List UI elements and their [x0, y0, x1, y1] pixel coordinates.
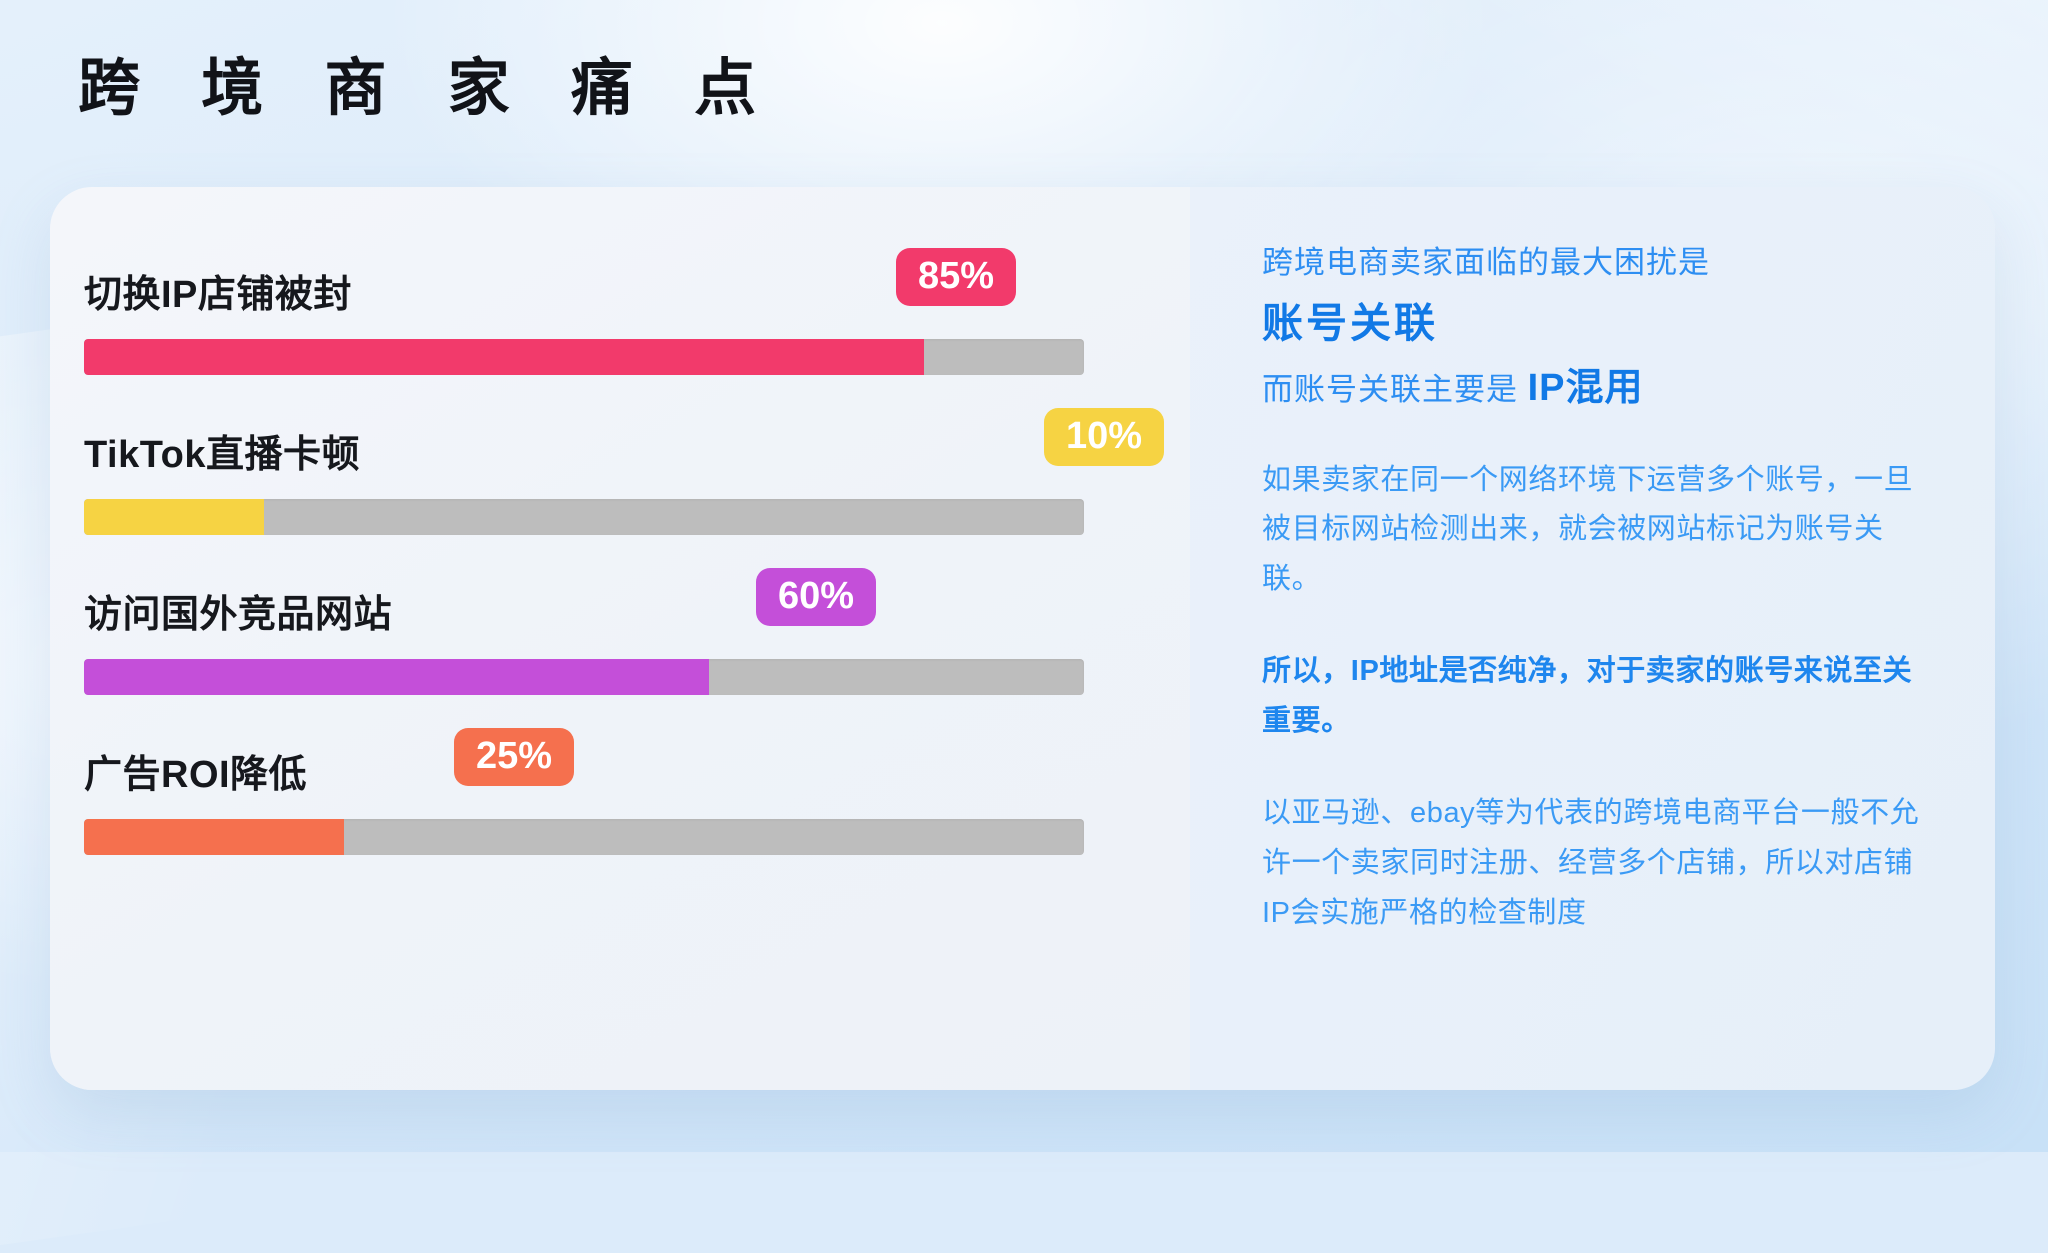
- sub-line: 而账号关联主要是 IP混用: [1262, 362, 1922, 415]
- bar-header: 广告ROI降低 25%: [84, 722, 1150, 814]
- bar-track: [84, 659, 1084, 695]
- bar-fill: [84, 659, 709, 695]
- hero-keyword: 账号关联: [1262, 297, 1922, 350]
- bar-row: 广告ROI降低 25%: [84, 722, 1150, 882]
- chart-panel: 切换IP店铺被封 85% TikTok直播卡顿 10% 访问国外竞品网站: [50, 187, 1190, 1090]
- bar-label: TikTok直播卡顿: [84, 423, 360, 478]
- paragraph-2: 所以，IP地址是否纯净，对于卖家的账号来说至关重要。: [1262, 647, 1922, 747]
- bar-fill: [84, 499, 264, 535]
- bar-header: 访问国外竞品网站 60%: [84, 562, 1150, 654]
- description-panel: 跨境电商卖家面临的最大困扰是 账号关联 而账号关联主要是 IP混用 如果卖家在同…: [1190, 187, 1995, 1090]
- bar-track: [84, 819, 1084, 855]
- bar-label: 广告ROI降低: [84, 743, 307, 798]
- bar-header: 切换IP店铺被封 85%: [84, 242, 1150, 334]
- bar-track: [84, 339, 1084, 375]
- bar-percent-badge: 25%: [454, 728, 574, 786]
- bar-header: TikTok直播卡顿 10%: [84, 402, 1150, 494]
- bar-chart: 切换IP店铺被封 85% TikTok直播卡顿 10% 访问国外竞品网站: [84, 242, 1150, 882]
- sub-keyword: IP混用: [1528, 367, 1644, 409]
- bar-percent-badge: 60%: [756, 568, 876, 626]
- bar-row: 访问国外竞品网站 60%: [84, 562, 1150, 722]
- bar-fill: [84, 819, 344, 855]
- bar-label: 访问国外竞品网站: [84, 583, 392, 638]
- bar-track: [84, 499, 1084, 535]
- bar-fill: [84, 339, 924, 375]
- bar-label: 切换IP店铺被封: [84, 263, 352, 318]
- bar-row: 切换IP店铺被封 85%: [84, 242, 1150, 402]
- page-title: 跨 境 商 家 痛 点: [78, 58, 778, 120]
- content-card: 切换IP店铺被封 85% TikTok直播卡顿 10% 访问国外竞品网站: [50, 187, 1995, 1090]
- bar-percent-badge: 85%: [896, 248, 1016, 306]
- bar-row: TikTok直播卡顿 10%: [84, 402, 1150, 562]
- lead-text: 跨境电商卖家面临的最大困扰是: [1262, 239, 1922, 287]
- paragraph-3: 以亚马逊、ebay等为代表的跨境电商平台一般不允许一个卖家同时注册、经营多个店铺…: [1262, 789, 1922, 939]
- bar-percent-badge: 10%: [1044, 408, 1164, 466]
- paragraph-1: 如果卖家在同一个网络环境下运营多个账号，一旦被目标网站检测出来，就会被网站标记为…: [1262, 456, 1922, 606]
- sub-prefix: 而账号关联主要是: [1262, 372, 1528, 407]
- description-text: 跨境电商卖家面临的最大困扰是 账号关联 而账号关联主要是 IP混用 如果卖家在同…: [1262, 239, 1922, 939]
